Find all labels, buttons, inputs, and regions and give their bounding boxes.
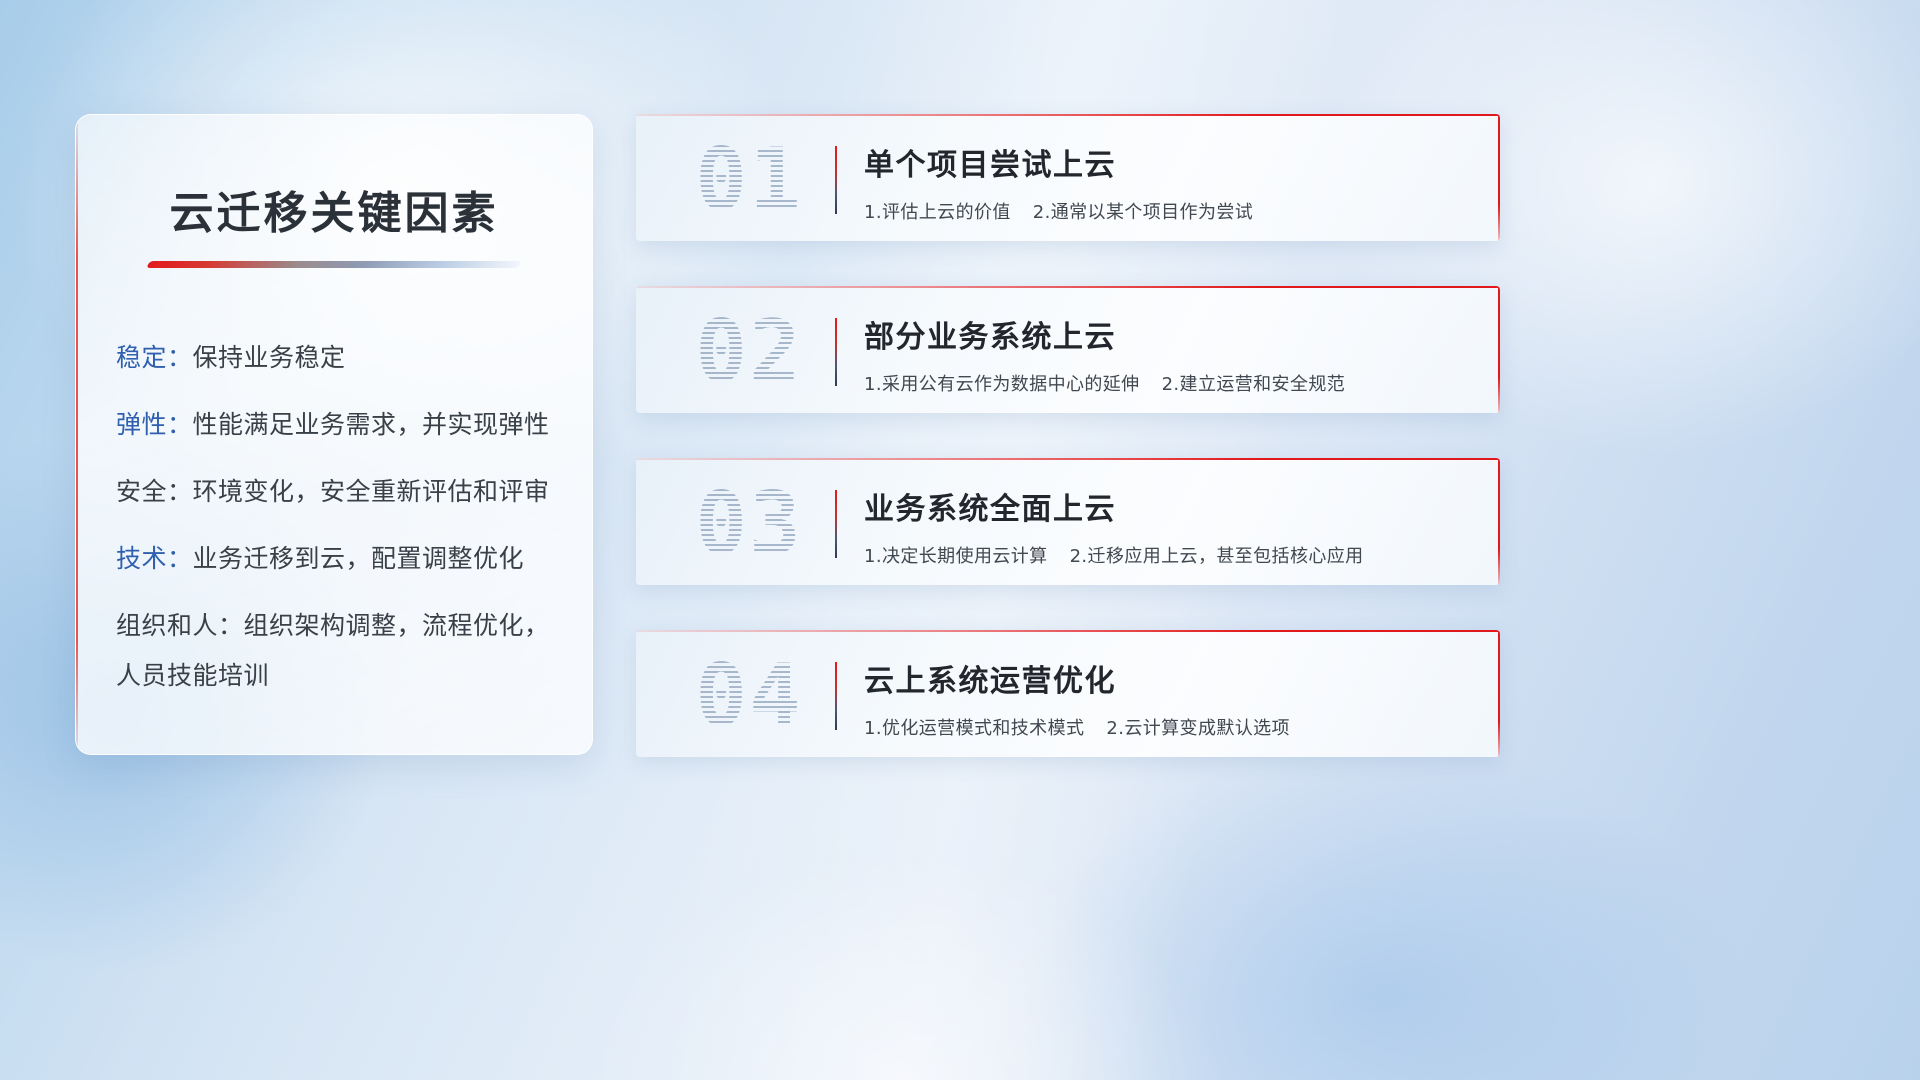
factor-label-stability: 稳定： — [116, 343, 193, 372]
factor-label-elasticity: 弹性： — [116, 410, 193, 439]
step-point-02-2: 2.建立运营和安全规范 — [1162, 374, 1346, 395]
factor-label-security: 安全： — [116, 477, 193, 506]
step-title-04: 云上系统运营优化 — [864, 656, 1470, 700]
step-title-03: 业务系统全面上云 — [864, 484, 1470, 528]
step-point-04-1: 1.优化运营模式和技术模式 — [864, 718, 1084, 739]
step-number-02: 02 — [664, 302, 834, 402]
factor-item-stability: 稳定：保持业务稳定 — [116, 342, 552, 374]
step-number-04: 04 — [664, 646, 834, 746]
factor-label-technology: 技术： — [116, 544, 193, 573]
key-factors-panel: 云迁移关键因素 稳定：保持业务稳定 弹性：性能满足业务需求，并实现弹性 安全：环… — [75, 114, 593, 755]
factor-text-technology: 业务迁移到云，配置调整优化 — [193, 544, 525, 573]
step-description-02: 1.采用公有云作为数据中心的延伸2.建立运营和安全规范 — [864, 370, 1470, 396]
step-card-01[interactable]: 01 单个项目尝试上云 1.评估上云的价值2.通常以某个项目作为尝试 — [636, 114, 1500, 241]
step-point-03-1: 1.决定长期使用云计算 — [864, 546, 1048, 567]
factor-text-stability: 保持业务稳定 — [193, 343, 346, 372]
factor-item-organization: 组织和人：组织架构调整，流程优化， — [116, 610, 552, 642]
step-number-01: 01 — [664, 130, 834, 230]
page-title: 云迁移关键因素 — [116, 177, 552, 241]
factor-text-elasticity: 性能满足业务需求，并实现弹性 — [193, 410, 550, 439]
step-point-01-1: 1.评估上云的价值 — [864, 202, 1011, 223]
step-description-04: 1.优化运营模式和技术模式2.云计算变成默认选项 — [864, 714, 1470, 740]
factor-list: 稳定：保持业务稳定 弹性：性能满足业务需求，并实现弹性 安全：环境变化，安全重新… — [116, 342, 552, 692]
step-divider-04 — [835, 662, 837, 730]
factor-text-organization-continued: 人员技能培训 — [116, 656, 552, 692]
step-divider-03 — [835, 490, 837, 558]
step-description-03: 1.决定长期使用云计算2.迁移应用上云，甚至包括核心应用 — [864, 542, 1470, 568]
title-underline-accent — [146, 261, 522, 268]
factor-item-security: 安全：环境变化，安全重新评估和评审 — [116, 476, 552, 508]
factor-item-elasticity: 弹性：性能满足业务需求，并实现弹性 — [116, 409, 552, 441]
step-divider-02 — [835, 318, 837, 386]
factor-text-organization: 组织架构调整，流程优化， — [244, 611, 550, 640]
step-title-02: 部分业务系统上云 — [864, 312, 1470, 356]
step-point-03-2: 2.迁移应用上云，甚至包括核心应用 — [1070, 546, 1364, 567]
step-divider-01 — [835, 146, 837, 214]
step-card-04[interactable]: 04 云上系统运营优化 1.优化运营模式和技术模式2.云计算变成默认选项 — [636, 630, 1500, 757]
step-point-02-1: 1.采用公有云作为数据中心的延伸 — [864, 374, 1140, 395]
step-point-04-2: 2.云计算变成默认选项 — [1106, 718, 1290, 739]
migration-steps-list: 01 单个项目尝试上云 1.评估上云的价值2.通常以某个项目作为尝试 02 部分… — [636, 114, 1500, 802]
step-description-01: 1.评估上云的价值2.通常以某个项目作为尝试 — [864, 198, 1470, 224]
factor-item-technology: 技术：业务迁移到云，配置调整优化 — [116, 543, 552, 575]
step-card-03[interactable]: 03 业务系统全面上云 1.决定长期使用云计算2.迁移应用上云，甚至包括核心应用 — [636, 458, 1500, 585]
step-card-02[interactable]: 02 部分业务系统上云 1.采用公有云作为数据中心的延伸2.建立运营和安全规范 — [636, 286, 1500, 413]
step-point-01-2: 2.通常以某个项目作为尝试 — [1033, 202, 1253, 223]
step-title-01: 单个项目尝试上云 — [864, 140, 1470, 184]
step-number-03: 03 — [664, 474, 834, 574]
factor-label-organization: 组织和人： — [116, 611, 244, 640]
factor-text-security: 环境变化，安全重新评估和评审 — [193, 477, 550, 506]
